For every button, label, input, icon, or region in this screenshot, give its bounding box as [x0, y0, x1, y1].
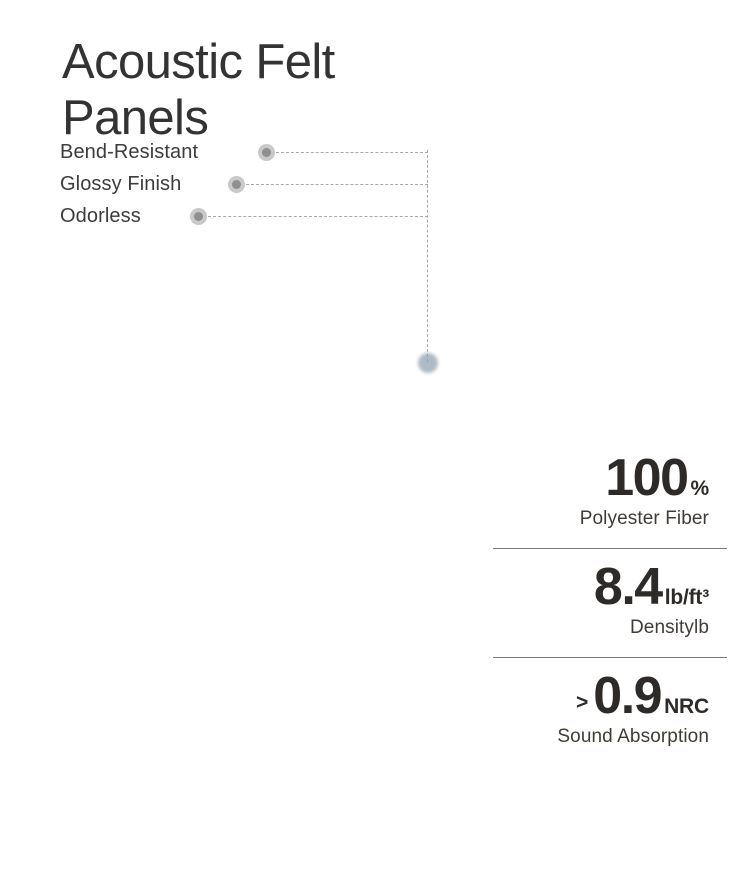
feature-item-glossy-finish: Glossy Finish [0, 168, 460, 200]
feature-item-bend-resistant: Bend-Resistant [0, 136, 460, 168]
spec-divider [493, 548, 727, 549]
spec-polyester-fiber: 100 % Polyester Fiber [457, 452, 727, 538]
spec-unit: lb/ft³ [665, 587, 709, 608]
spec-divider [493, 657, 727, 658]
vertical-leader-line [427, 150, 428, 362]
spec-caption: Sound Absorption [457, 726, 709, 748]
title-line-1: Acoustic Felt [62, 35, 335, 89]
feature-list: Bend-Resistant Glossy Finish Odorless [0, 136, 460, 232]
feature-label: Odorless [60, 205, 141, 228]
feature-leader-line [208, 216, 428, 217]
feature-leader-line [276, 152, 428, 153]
feature-item-odorless: Odorless [0, 200, 460, 232]
spec-unit: NRC [664, 696, 709, 717]
spec-caption: Polyester Fiber [457, 508, 709, 530]
spec-number: 8.4 [594, 561, 662, 613]
spec-unit: % [691, 478, 709, 499]
feature-dot-icon [228, 176, 245, 193]
spec-greater-than-icon: > [576, 692, 588, 713]
feature-leader-line [246, 184, 428, 185]
feature-dot-icon [190, 208, 207, 225]
feature-dot-icon [258, 144, 275, 161]
spec-value: 8.4 lb/ft³ [457, 561, 709, 613]
spec-number: 100 [605, 452, 687, 504]
spec-value: 100 % [457, 452, 709, 504]
spec-sound-absorption: > 0.9 NRC Sound Absorption [457, 670, 727, 756]
feature-label: Bend-Resistant [60, 141, 198, 164]
product-infographic: Acoustic Felt Panels Bend-Resistant Glos… [0, 0, 735, 879]
spec-caption: Densitylb [457, 617, 709, 639]
spec-callout-list: 100 % Polyester Fiber 8.4 lb/ft³ Density… [457, 452, 727, 756]
feature-label: Glossy Finish [60, 173, 181, 196]
page-title: Acoustic Felt Panels [62, 35, 482, 147]
spec-number: 0.9 [593, 670, 661, 722]
spec-density: 8.4 lb/ft³ Densitylb [457, 561, 727, 647]
spec-value: > 0.9 NRC [457, 670, 709, 722]
leader-endpoint-dot [418, 353, 438, 373]
